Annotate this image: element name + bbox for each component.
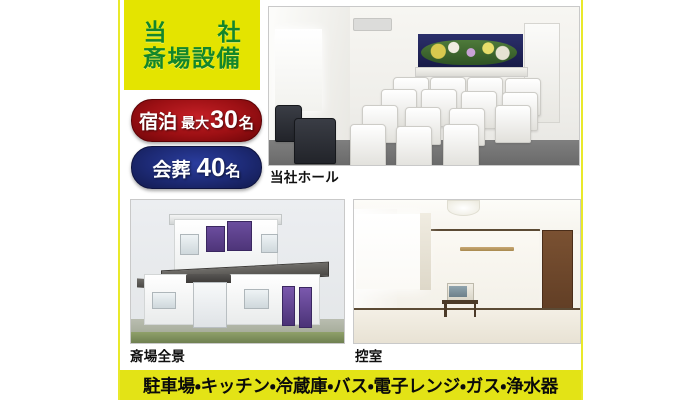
television-screen: [449, 286, 467, 297]
headline-line-1: 当 社: [130, 20, 255, 44]
hall-chair-rows: [269, 7, 579, 165]
nobori-banner: [299, 287, 312, 328]
room-window: [356, 214, 424, 288]
photo-exterior: [130, 199, 345, 344]
room-floor: [354, 309, 580, 343]
headline-block: 当 社 斎場設備: [124, 0, 260, 90]
caption-hall: 当社ホール: [270, 166, 339, 186]
hall-chair: [396, 126, 432, 167]
building-window: [152, 292, 175, 310]
facilities-bar: 駐車場・キッチン・冷蔵庫・バス・電子レンジ・ガス・浄水器: [120, 370, 581, 400]
baseboard: [354, 308, 580, 310]
facilities-bar-text: 駐車場・キッチン・冷蔵庫・バス・電子レンジ・ガス・浄水器: [143, 373, 558, 398]
caption-waiting-room: 控室: [355, 345, 383, 365]
badge-lodging-label: 宿泊: [139, 107, 177, 134]
building-window: [180, 234, 199, 255]
grass: [131, 332, 344, 343]
curtain: [420, 213, 431, 290]
exterior-scene: [131, 200, 344, 343]
purple-sign: [206, 226, 225, 252]
headline-line-2: 斎場設備: [143, 46, 241, 70]
tv-stand-leg: [474, 303, 477, 317]
building-window: [244, 289, 269, 310]
badge-lodging-qualifier: 最大: [181, 113, 209, 133]
badge-attendance-number: 40: [197, 152, 226, 183]
badge-attendance-unit: 名: [225, 160, 240, 181]
photo-waiting-room: [353, 199, 581, 344]
wall-rail: [460, 247, 514, 251]
purple-sign: [227, 221, 252, 250]
badge-lodging: 宿泊 最大 30 名: [131, 99, 262, 142]
waiting-room-scene: [354, 200, 580, 343]
nobori-banner: [282, 286, 295, 327]
hall-scene: [269, 7, 579, 165]
badge-attendance-label: 会葬: [153, 155, 191, 182]
badge-funeral-attendance: 会葬 40 名: [131, 146, 262, 189]
photo-hall: [268, 6, 580, 166]
entrance-door: [193, 282, 227, 328]
badge-lodging-number: 30: [210, 106, 238, 135]
hall-chair: [350, 124, 386, 166]
hall-chair: [495, 105, 531, 143]
hall-chair: [443, 124, 479, 166]
building-window: [261, 234, 278, 253]
tv-stand-leg: [444, 303, 447, 317]
hall-chair-dark: [294, 118, 336, 164]
poster-root: 当 社 斎場設備 宿泊 最大 30 名 会葬 40 名: [0, 0, 700, 400]
caption-exterior: 斎場全景: [130, 345, 185, 365]
badge-lodging-unit: 名: [239, 112, 254, 133]
